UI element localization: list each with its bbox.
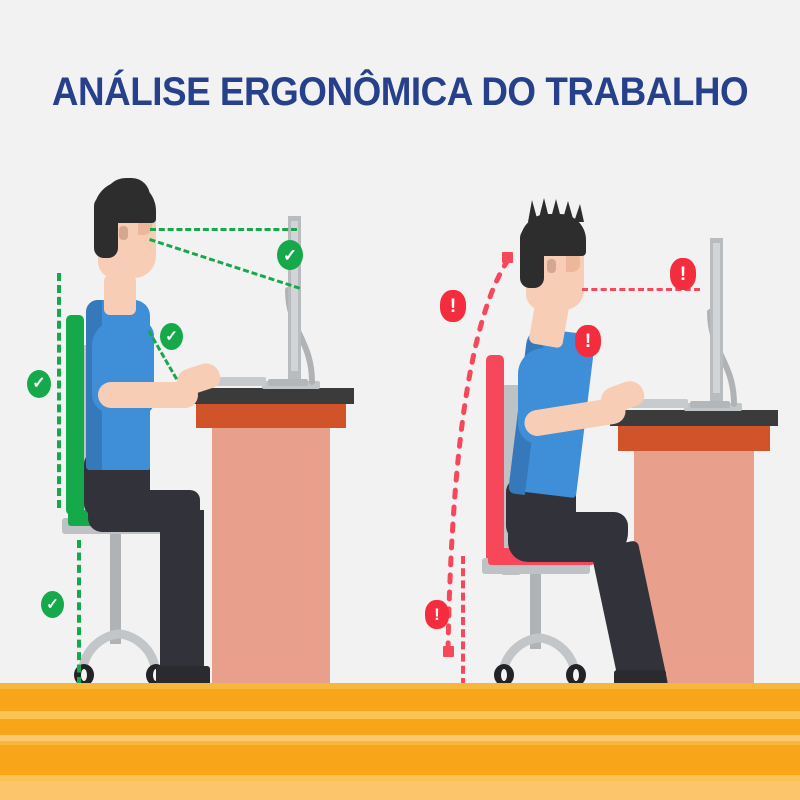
desk-body (212, 415, 330, 690)
chair-back-pad (66, 315, 84, 515)
badge-back-align-ok: ✓ (27, 370, 51, 398)
infographic-canvas: ANÁLISE ERGONÔMICA DO TRABALHO (0, 0, 800, 800)
person-hair-spikes (526, 196, 588, 224)
monitor-screen-face (713, 243, 720, 393)
desk-edge (618, 425, 770, 451)
person-ear (119, 226, 128, 240)
floor-band-2 (0, 711, 800, 719)
badge-eye-line-bad: ! (670, 258, 696, 290)
badge-shoulder-ok: ✓ (160, 323, 183, 350)
badge-feet-ok: ✓ (41, 591, 64, 618)
correct-posture-illustration: ✓ ✓ ✓ ✓ (0, 0, 400, 690)
leg-vertical-guide-bad (461, 556, 465, 686)
badge-feet-bad: ! (425, 600, 449, 629)
incorrect-posture-illustration: ! ! ! ! (400, 0, 800, 690)
floor-band-8 (0, 781, 800, 800)
eye-level-guide (150, 228, 297, 231)
badge-neck-bad: ! (575, 325, 601, 357)
floor-band-3 (0, 719, 800, 735)
eye-to-screen-guide (149, 238, 300, 290)
person-hair-back (520, 228, 544, 288)
floor-band-6 (0, 745, 800, 775)
desk-edge (196, 402, 346, 428)
person-hair-top (104, 178, 150, 200)
wooden-floor (0, 683, 800, 800)
person-ear (547, 259, 556, 273)
floor-band-1 (0, 689, 800, 711)
keyboard-mouse-pad (690, 401, 730, 408)
person-neck (104, 275, 136, 315)
desk-top (188, 388, 354, 404)
keyboard-mouse-pad (268, 379, 308, 386)
badge-curved-spine-bad: ! (440, 290, 466, 322)
person-lower-leg (160, 510, 204, 675)
desk-top (610, 410, 778, 426)
badge-eye-line-ok: ✓ (277, 240, 303, 270)
leg-vertical-guide (77, 540, 81, 685)
spine-vertical-guide (57, 273, 61, 508)
person-hair-back (94, 196, 118, 258)
